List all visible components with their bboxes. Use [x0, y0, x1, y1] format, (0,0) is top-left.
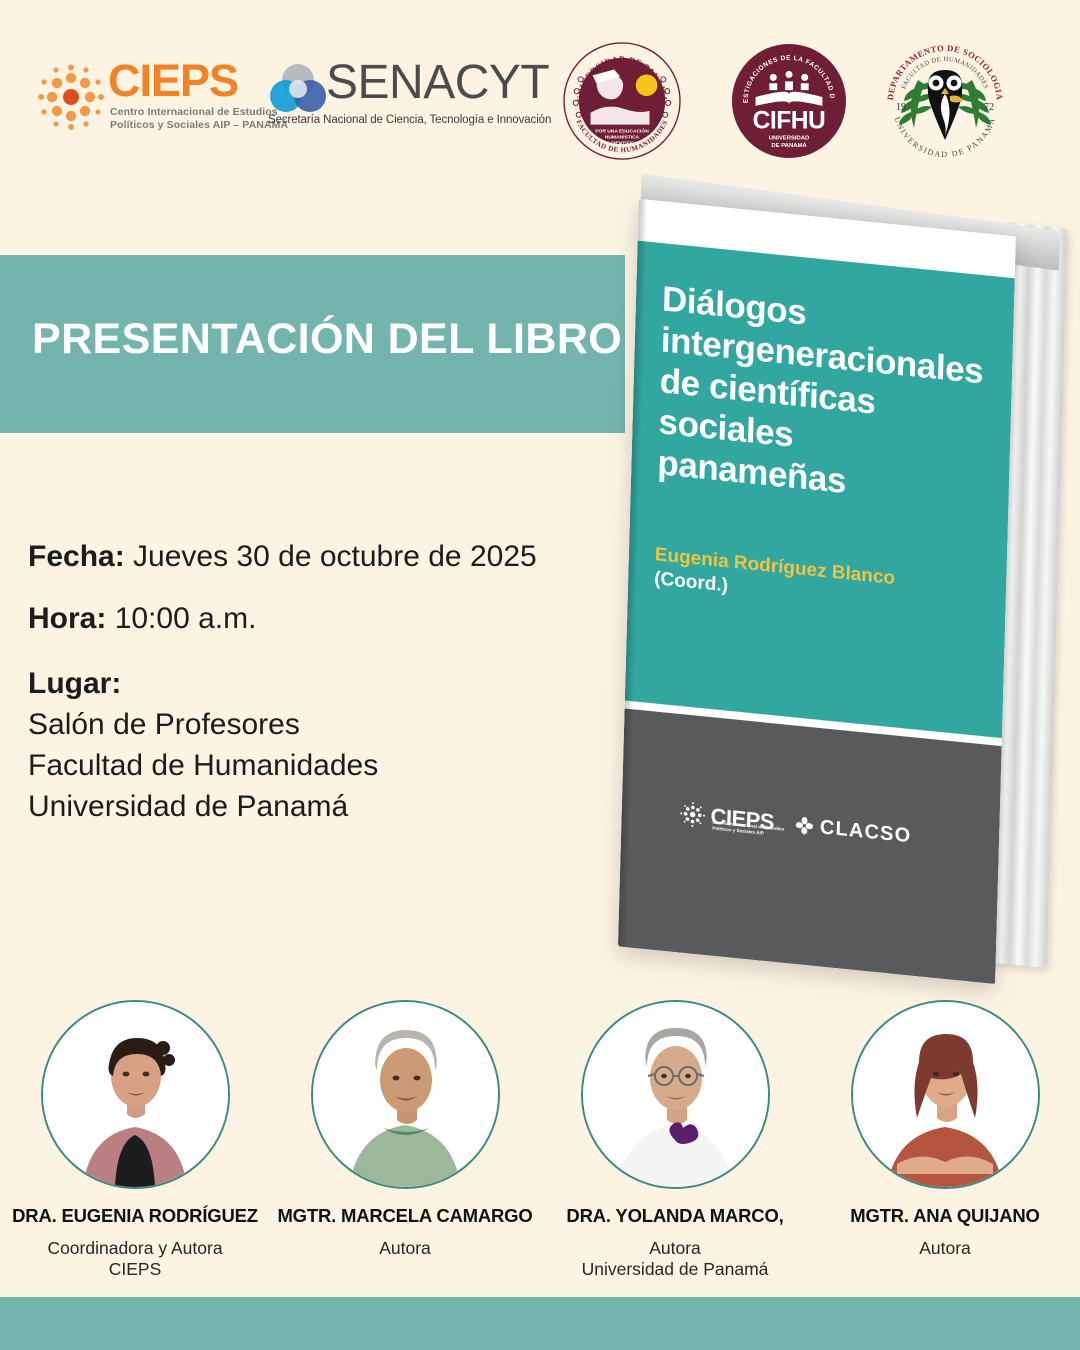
speaker-role-line1: Coordinadora y Autora — [47, 1238, 222, 1259]
seal-cifhu-icon: CENTRO DE INVESTIGACIONES DE LA FACULTAD… — [730, 42, 848, 160]
speaker-role: Autora — [379, 1238, 431, 1259]
speaker-role: Autora Universidad de Panamá — [582, 1238, 769, 1281]
senacyt-wordmark: SENACYT — [326, 59, 549, 107]
book-cieps-logo: CIEPS Centro Internacional de Estudios P… — [679, 800, 774, 835]
cieps-logo: CIEPS Centro Internacional de Estudios P… — [38, 62, 233, 134]
speaker-card: MGTR. ANA QUIJANO Autora — [814, 1000, 1076, 1259]
event-date: Fecha: Jueves 30 de octubre de 2025 — [28, 540, 628, 574]
speaker-name: MGTR. MARCELA CAMARGO — [277, 1205, 532, 1227]
portrait-ana-quijano — [853, 1002, 1038, 1187]
book-title: Diálogos intergeneracionales de científi… — [657, 279, 992, 516]
avatar — [851, 1000, 1040, 1189]
speaker-name: DRA. EUGENIA RODRÍGUEZ — [12, 1205, 258, 1227]
event-place: Lugar: Salón de Profesores Facultad de H… — [28, 663, 628, 827]
event-place-line1: Salón de Profesores — [28, 704, 628, 745]
speaker-name: MGTR. ANA QUIJANO — [850, 1205, 1039, 1227]
presentation-banner: PRESENTACIÓN DEL LIBRO — [0, 255, 625, 433]
avatar — [581, 1000, 770, 1189]
seal-departamento-de-sociologia-icon: DEPARTAMENTO DE SOCIOLOGIA FACULTAD DE H… — [880, 38, 1010, 168]
event-place-line3: Universidad de Panamá — [28, 786, 628, 827]
speaker-role-line1: Autora — [379, 1238, 431, 1259]
book-clacso-logo: CLACSO — [794, 813, 912, 848]
speaker-role-line2: CIEPS — [47, 1259, 222, 1280]
event-time-value: 10:00 a.m. — [115, 602, 257, 635]
avatar — [41, 1000, 230, 1189]
speaker-role-line1: Autora — [582, 1238, 769, 1259]
event-details: Fecha: Jueves 30 de octubre de 2025 Hora… — [28, 540, 628, 828]
senacyt-venn-icon — [268, 62, 328, 118]
cieps-subtitle-line2: Políticos y Sociales AIP – PANAMÁ — [110, 119, 288, 132]
logo-bar: CIEPS Centro Internacional de Estudios P… — [0, 0, 1080, 195]
event-place-line2: Facultad de Humanidades — [28, 745, 628, 786]
portrait-marcela-camargo — [313, 1002, 498, 1187]
avatar — [311, 1000, 500, 1189]
event-time: Hora: 10:00 a.m. — [28, 602, 628, 636]
book-cover: Diálogos intergeneracionales de científi… — [618, 199, 1016, 984]
book-mockup: Diálogos intergeneracionales de científi… — [600, 180, 1080, 1000]
bottom-accent-bar — [0, 1297, 1080, 1350]
seal-universidad-de-panama-icon: UNIVERSIDAD DE PANAMA FACULTAD DE HUMANI… — [563, 42, 681, 160]
speaker-role: Coordinadora y Autora CIEPS — [47, 1238, 222, 1281]
book-cieps-dot-cluster-icon — [679, 800, 706, 829]
senacyt-logo: SENACYT Secretaría Nacional de Ciencia, … — [268, 62, 526, 140]
speaker-card: DRA. YOLANDA MARCO, Autora Universidad d… — [544, 1000, 806, 1281]
speaker-card: MGTR. MARCELA CAMARGO Autora — [274, 1000, 536, 1259]
speaker-role: Autora — [919, 1238, 971, 1259]
event-time-label: Hora: — [28, 602, 106, 635]
speaker-role-line1: Autora — [919, 1238, 971, 1259]
speakers-row: DRA. EUGENIA RODRÍGUEZ Coordinadora y Au… — [0, 1000, 1080, 1300]
cieps-wordmark: CIEPS — [108, 58, 238, 103]
svg-text:UNIVERSIDAD: UNIVERSIDAD — [769, 135, 810, 141]
svg-text:DE PANAMÁ: DE PANAMÁ — [771, 142, 807, 149]
cieps-subtitle: Centro Internacional de Estudios Polític… — [110, 106, 288, 133]
event-date-label: Fecha: — [28, 540, 125, 573]
speaker-role-line2: Universidad de Panamá — [582, 1259, 769, 1280]
speaker-card: DRA. EUGENIA RODRÍGUEZ Coordinadora y Au… — [4, 1000, 266, 1281]
poster-root: CIEPS Centro Internacional de Estudios P… — [0, 0, 1080, 1350]
portrait-yolanda-marco — [583, 1002, 768, 1187]
seal-year-right: 72 — [984, 102, 994, 113]
cieps-dot-cluster-icon — [38, 64, 104, 130]
book-clacso-wordmark: CLACSO — [820, 816, 912, 848]
svg-text:Y CIENTIFICA: Y CIENTIFICA — [606, 140, 639, 146]
senacyt-subtitle: Secretaría Nacional de Ciencia, Tecnolog… — [268, 114, 551, 126]
seal-year-left: 19 — [896, 102, 906, 113]
event-place-label: Lugar: — [28, 663, 628, 704]
event-date-value: Jueves 30 de octubre de 2025 — [133, 540, 537, 573]
speaker-name: DRA. YOLANDA MARCO, — [566, 1205, 783, 1227]
portrait-eugenia-rodriguez — [43, 1002, 228, 1187]
svg-text:CIFHU: CIFHU — [753, 108, 826, 135]
cieps-subtitle-line1: Centro Internacional de Estudios — [110, 106, 288, 119]
page-title: PRESENTACIÓN DEL LIBRO — [32, 315, 622, 364]
clacso-flower-icon — [794, 815, 815, 837]
